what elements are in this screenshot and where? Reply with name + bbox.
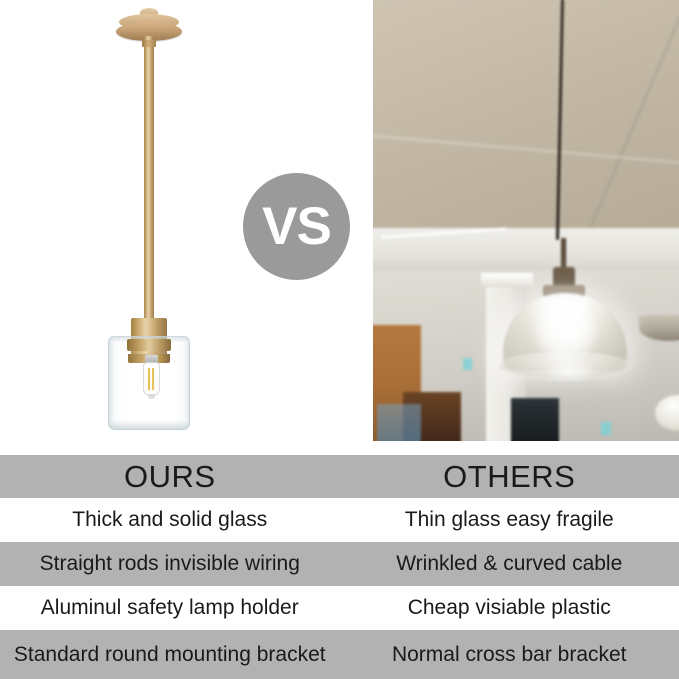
tv-screen xyxy=(511,398,559,441)
others-feature-4: Normal cross bar bracket xyxy=(340,630,679,679)
shade-bottom-rim xyxy=(108,420,190,430)
others-product-photo xyxy=(373,0,679,441)
rod-joint xyxy=(142,40,156,47)
comparison-table: OURS OTHERS Thick and solid glass Thin g… xyxy=(0,455,679,679)
column-header-ours: OURS xyxy=(0,455,340,498)
cabinet-items xyxy=(377,404,421,441)
photo-comparison-section: VS xyxy=(0,0,679,455)
bulb-tip xyxy=(148,394,155,399)
ours-feature-4: Standard round mounting bracket xyxy=(0,630,340,679)
teal-reflection-lower xyxy=(601,422,611,435)
table-row: Standard round mounting bracket Normal c… xyxy=(0,630,679,679)
vs-badge: VS xyxy=(243,173,350,280)
comparison-infographic: VS xyxy=(0,0,679,679)
others-feature-1: Thin glass easy fragile xyxy=(340,498,679,542)
others-feature-2: Wrinkled & curved cable xyxy=(340,542,679,586)
column-cap-trim xyxy=(481,273,533,287)
others-feature-3: Cheap visiable plastic xyxy=(340,586,679,630)
holder-ring-upper xyxy=(127,339,171,351)
table-header-row: OURS OTHERS xyxy=(0,455,679,498)
vs-label: VS xyxy=(262,200,331,253)
table-row: Aluminul safety lamp holder Cheap visiab… xyxy=(0,586,679,630)
ours-feature-1: Thick and solid glass xyxy=(0,498,340,542)
ours-feature-3: Aluminul safety lamp holder xyxy=(0,586,340,630)
bulb-underglow xyxy=(541,360,597,382)
ours-feature-2: Straight rods invisible wiring xyxy=(0,542,340,586)
teal-reflection-upper xyxy=(463,358,472,370)
bulb-filament xyxy=(147,368,156,390)
competitor-plastic-socket xyxy=(553,267,575,287)
straight-rod xyxy=(144,36,154,326)
ceiling-seam xyxy=(373,0,679,232)
competitor-cable-stem xyxy=(561,238,566,270)
table-row: Thick and solid glass Thin glass easy fr… xyxy=(0,498,679,542)
bulb-glow xyxy=(533,300,599,362)
table-row: Straight rods invisible wiring Wrinkled … xyxy=(0,542,679,586)
shade-highlight xyxy=(118,344,124,420)
column-header-others: OTHERS xyxy=(340,455,679,498)
